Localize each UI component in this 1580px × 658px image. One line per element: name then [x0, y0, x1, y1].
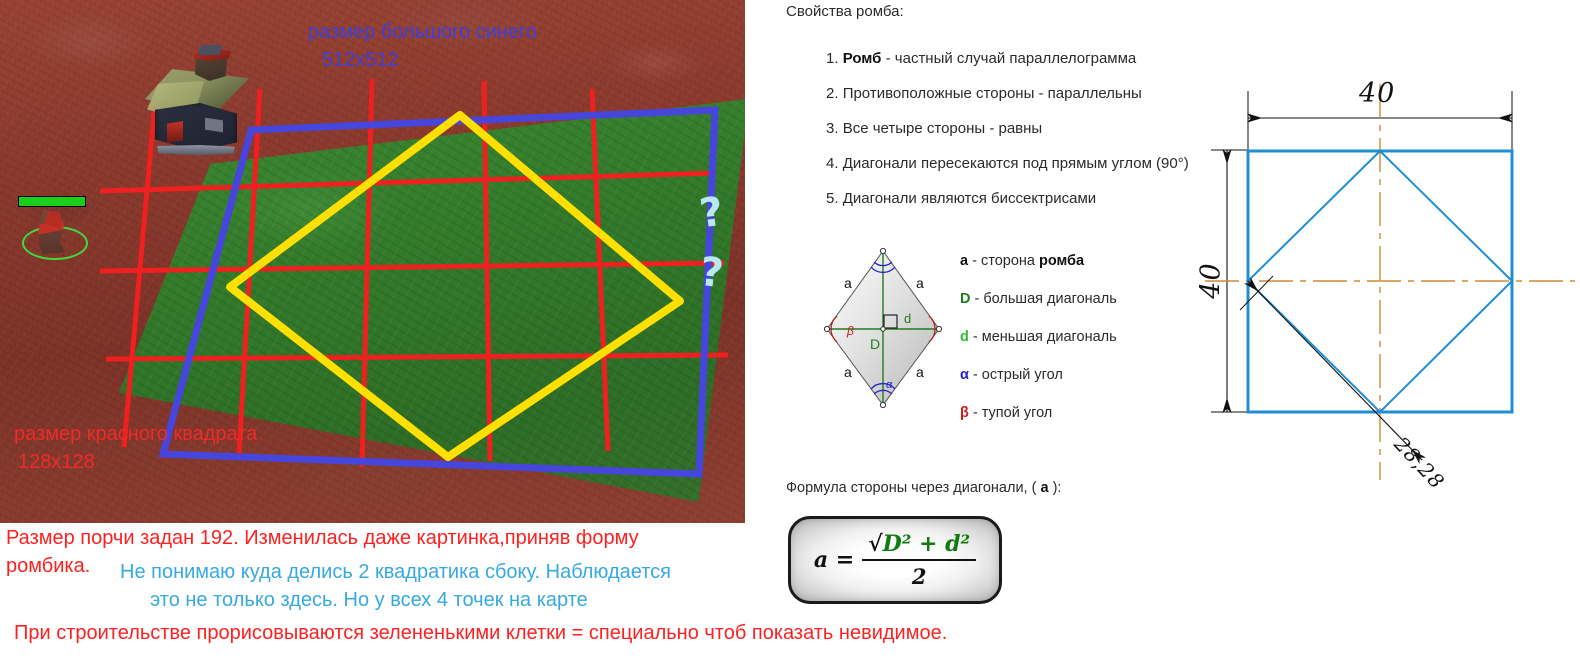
annotation-red-line2: 128x128 — [18, 450, 95, 475]
caption-cyan-line2: это не только здесь. Но у всех 4 точек н… — [150, 589, 588, 612]
property-item-1: 1. Ромб - частный случай параллелограмма — [826, 50, 1226, 67]
svg-text:a: a — [916, 364, 924, 380]
svg-text:D: D — [870, 336, 880, 352]
property-item-2: 2. Противоположные стороны - параллельны — [826, 85, 1226, 102]
formula-box: a = √D² + d² 2 — [788, 516, 1002, 604]
caption-red2: При строительстве прорисовываются зелене… — [14, 622, 947, 645]
annotation-red-line1: размер красного квадрата — [14, 422, 257, 447]
formula-label: Формула стороны через диагонали, ( a ): — [786, 480, 1061, 496]
formula-lhs: a = — [814, 547, 854, 573]
svg-text:α: α — [886, 379, 893, 391]
formula-expression: a = √D² + d² 2 — [814, 531, 976, 589]
rhombus-info-panel: Свойства ромба: 1. Ромб - частный случай… — [782, 0, 1182, 658]
page-root: размер большого синего 512x512 размер кр… — [0, 0, 1580, 658]
properties-list: 1. Ромб - частный случай параллелограмма… — [786, 50, 1226, 225]
legend-item-d: d - меньшая диагональ — [960, 329, 1190, 345]
farm-building-icon — [143, 45, 255, 165]
health-bar — [18, 196, 86, 207]
properties-title: Свойства ромба: — [786, 3, 904, 20]
svg-text:d: d — [904, 311, 911, 326]
legend-list: a - сторона ромба D - большая диагональ … — [960, 253, 1190, 443]
caption-red1-line2: ромбика. — [6, 555, 90, 578]
question-mark-icon-2: ? — [698, 249, 726, 297]
property-item-5: 5. Диагонали являются биссектрисами — [826, 190, 1226, 207]
formula-denominator: 2 — [862, 561, 976, 589]
legend-item-D: D - большая диагональ — [960, 291, 1190, 307]
property-item-4: 4. Диагонали пересекаются под прямым угл… — [826, 155, 1226, 172]
legend-item-beta: β - тупой угол — [960, 405, 1190, 421]
svg-text:a: a — [844, 364, 852, 380]
annotation-blue-line1: размер большого синего — [308, 20, 537, 45]
property-item-3: 3. Все четыре стороны - равны — [826, 120, 1226, 137]
svg-text:a: a — [844, 275, 852, 291]
cad-height-label: 40 — [1196, 261, 1227, 301]
caption-cyan-line1: Не понимаю куда делись 2 квадратика сбок… — [120, 561, 671, 584]
formula-numerator: √D² + d² — [862, 531, 976, 561]
svg-text:a: a — [916, 275, 924, 291]
selected-unit[interactable] — [18, 196, 92, 268]
cad-width-label: 40 — [1359, 78, 1395, 109]
caption-red1-line1: Размер порчи задан 192. Изменилась даже … — [6, 527, 639, 550]
rhombus-diagram: a a a a d D β α — [808, 243, 958, 413]
legend-item-alpha: α - острый угол — [960, 367, 1190, 383]
cad-technical-drawing: 40 40 28,28 — [1185, 0, 1580, 600]
svg-text:β: β — [846, 324, 854, 338]
game-screenshot: размер большого синего 512x512 размер кр… — [0, 0, 745, 523]
legend-item-a: a - сторона ромба — [960, 253, 1190, 269]
annotation-blue-line2: 512x512 — [322, 48, 399, 73]
